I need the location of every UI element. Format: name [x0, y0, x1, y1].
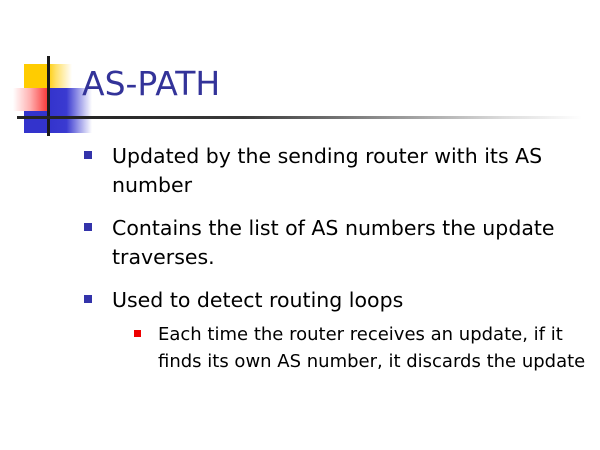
title-underline-rule [17, 116, 582, 119]
presentation-slide: AS-PATH Updated by the sending router wi… [0, 0, 600, 450]
list-item-label: Each time the router receives an update,… [158, 324, 585, 372]
page-title: AS-PATH [82, 64, 220, 104]
list-item-label: Contains the list of AS numbers the upda… [112, 216, 555, 269]
accent-block-blue-lower-icon [24, 111, 48, 133]
slide-body: Updated by the sending router with its A… [0, 142, 600, 389]
bullet-square-icon [84, 295, 92, 303]
accent-block-yellow-icon [24, 64, 72, 91]
list-item: Used to detect routing loops Each time t… [82, 286, 600, 375]
list-item: Contains the list of AS numbers the upda… [82, 214, 600, 272]
bullet-square-icon [84, 223, 92, 231]
bullet-square-icon [84, 151, 92, 159]
accent-block-red-icon [13, 88, 57, 111]
slide-title-area: AS-PATH [0, 50, 600, 142]
bullet-list-level1: Updated by the sending router with its A… [0, 142, 600, 375]
bullet-list-level2: Each time the router receives an update,… [112, 321, 600, 375]
list-item-label: Used to detect routing loops [112, 288, 403, 312]
bullet-square-icon [134, 330, 141, 337]
list-item: Updated by the sending router with its A… [82, 142, 600, 200]
list-item-label: Updated by the sending router with its A… [112, 144, 542, 197]
accent-vertical-rule [47, 56, 50, 136]
list-item: Each time the router receives an update,… [132, 321, 600, 375]
